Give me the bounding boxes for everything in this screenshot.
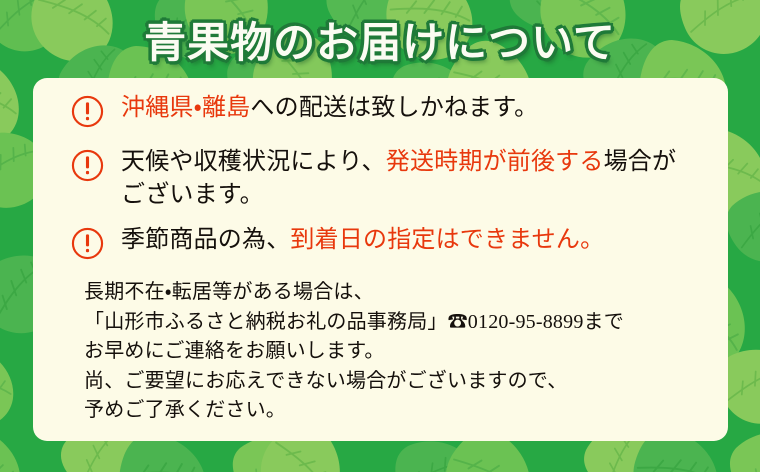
notice-3-highlight: 到着日の指定はできません。 xyxy=(290,227,604,253)
notice-text-3: 季節商品の為、到着日の指定はできません。 xyxy=(121,224,604,257)
notice-2-plain-b: 場合が xyxy=(604,149,677,175)
notice-1-highlight: 沖縄県・離島 xyxy=(121,95,250,121)
note-line-1: 長期不在・転居等がある場合は、 xyxy=(84,278,706,308)
notice-text-1: 沖縄県・離島への配送は致しかねます。 xyxy=(121,92,538,125)
note-line-2: 「山形市ふるさと納税お礼の品事務局」☎0120-95-8899まで xyxy=(84,308,706,338)
notice-1-plain: への配送は致しかねます。 xyxy=(250,95,538,121)
notice-item-1: 沖縄県・離島への配送は致しかねます。 xyxy=(71,92,706,134)
notice-2-plain-c: ございます。 xyxy=(121,182,264,208)
notice-2-plain-a: 天候や収穫状況により、 xyxy=(121,149,386,175)
notice-2-highlight: 発送時期が前後する xyxy=(386,149,604,175)
supplementary-note: 長期不在・転居等がある場合は、 「山形市ふるさと納税お礼の品事務局」☎0120-… xyxy=(71,278,706,426)
notice-3-plain: 季節商品の為、 xyxy=(121,227,290,253)
exclamation-circle-icon xyxy=(71,149,104,182)
notice-text-2: 天候や収穫状況により、発送時期が前後する場合がございます。 xyxy=(121,146,676,212)
delivery-notice-banner: 青果物のお届けについて 沖縄県・離島への配送は致しかねます。 天候や収穫状況によ… xyxy=(0,0,760,472)
exclamation-circle-icon xyxy=(71,227,104,260)
notice-item-2: 天候や収穫状況により、発送時期が前後する場合がございます。 xyxy=(71,146,706,212)
notice-item-3: 季節商品の為、到着日の指定はできません。 xyxy=(71,224,706,266)
notice-card: 沖縄県・離島への配送は致しかねます。 天候や収穫状況により、発送時期が前後する場… xyxy=(33,78,728,441)
exclamation-circle-icon xyxy=(71,95,104,128)
note-line-3: お早めにご連絡をお願いします。 xyxy=(84,337,706,367)
page-title: 青果物のお届けについて xyxy=(144,9,616,70)
note-line-5: 予めご了承ください。 xyxy=(84,396,706,426)
note-line-4: 尚、ご要望にお応えできない場合がございますので、 xyxy=(84,367,706,397)
banner-title-area: 青果物のお届けについて xyxy=(0,0,760,78)
